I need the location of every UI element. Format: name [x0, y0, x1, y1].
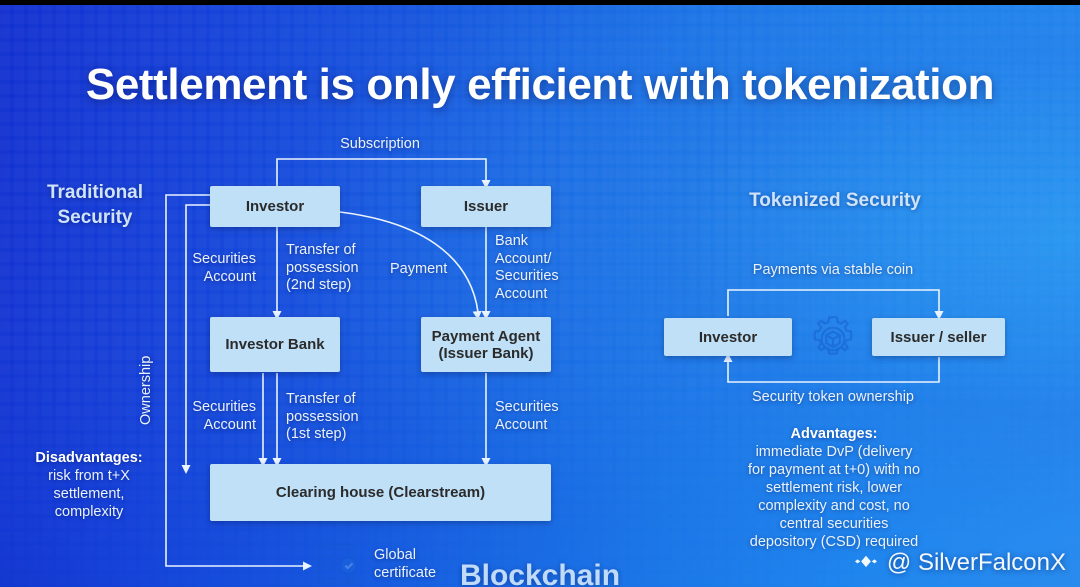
section-heading-traditional: Traditional Security	[20, 180, 170, 230]
label-ownership: Ownership	[138, 335, 154, 425]
box-payment-agent[interactable]: Payment Agent (Issuer Bank)	[421, 317, 551, 372]
disadvantages-title: Disadvantages:	[12, 449, 166, 467]
label-security-token-ownership: Security token ownership	[718, 389, 948, 407]
advantages-block: Advantages: immediate DvP (delivery for …	[684, 425, 984, 551]
gear-blockchain-icon	[806, 312, 860, 371]
section-heading-tokenized: Tokenized Security	[700, 188, 970, 213]
label-securities-account-top: Securities Account	[180, 251, 256, 286]
label-payments-via-stable-coin: Payments via stable coin	[718, 262, 948, 280]
box-tokenized-investor[interactable]: Investor	[664, 318, 792, 356]
advantages-title: Advantages:	[684, 425, 984, 443]
top-black-bar	[0, 0, 1080, 5]
watermark-handle: @ SilverFalconX	[887, 549, 1066, 577]
label-global-certificate: Global certificate	[374, 547, 484, 582]
watermark: @ SilverFalconX	[853, 549, 1066, 577]
label-payment: Payment	[390, 261, 460, 279]
page-title: Settlement is only efficient with tokeni…	[0, 60, 1080, 110]
payment-agent-line-2: (Issuer Bank)	[438, 345, 533, 362]
box-investor[interactable]: Investor	[210, 186, 340, 227]
box-investor-bank[interactable]: Investor Bank	[210, 317, 340, 372]
box-issuer[interactable]: Issuer	[421, 186, 551, 227]
heading-line-1: Traditional	[20, 180, 170, 205]
box-clearing-house[interactable]: Clearing house (Clearstream)	[210, 464, 551, 521]
heading-line-2: Security	[20, 205, 170, 230]
label-transfer-possession-1st: Transfer of possession (1st step)	[286, 391, 386, 444]
payment-agent-line-1: Payment Agent	[432, 328, 541, 345]
label-transfer-possession-2nd: Transfer of possession (2nd step)	[286, 242, 386, 295]
label-subscription: Subscription	[300, 136, 460, 154]
box-issuer-seller[interactable]: Issuer / seller	[872, 318, 1005, 356]
advantages-body: immediate DvP (delivery for payment at t…	[684, 443, 984, 551]
slide-canvas: Settlement is only efficient with tokeni…	[0, 0, 1080, 587]
global-certificate-line-1: Global	[374, 547, 484, 565]
disadvantages-body: risk from t+X settlement, complexity	[12, 467, 166, 521]
global-certificate-line-2: certificate	[374, 565, 484, 583]
disadvantages-block: Disadvantages: risk from t+X settlement,…	[12, 449, 166, 521]
label-bank-account-securities: Bank Account/ Securities Account	[495, 233, 585, 303]
label-securities-account-mid: Securities Account	[180, 399, 256, 434]
diamond-logo-icon	[853, 550, 879, 576]
label-securities-account-right: Securities Account	[495, 399, 585, 434]
